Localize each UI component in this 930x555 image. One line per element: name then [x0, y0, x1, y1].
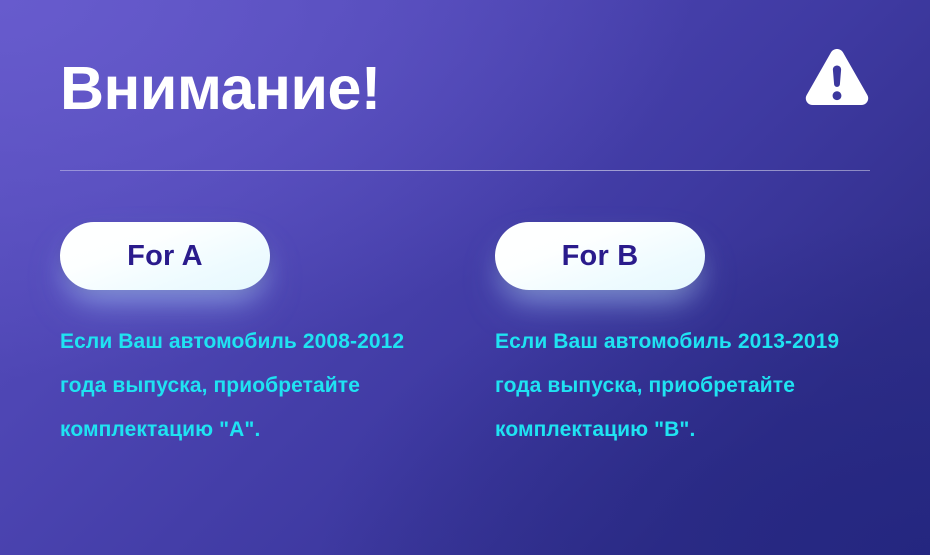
option-a-description: Если Ваш автомобиль 2008-2012 года выпус…: [60, 320, 460, 452]
option-column-a: For A Если Ваш автомобиль 2008-2012 года…: [60, 222, 460, 290]
description-line: Если Ваш автомобиль 2013-2019: [495, 320, 895, 364]
warning-triangle-icon: [804, 48, 870, 112]
page-title: Внимание!: [60, 46, 381, 130]
description-line: года выпуска, приобретайте: [60, 364, 460, 408]
for-a-button-label: For A: [127, 242, 203, 271]
description-line: года выпуска, приобретайте: [495, 364, 895, 408]
for-a-button[interactable]: For A: [60, 222, 270, 290]
description-line: комплектацию "A".: [60, 408, 460, 452]
banner-header: Внимание!: [60, 46, 870, 136]
option-column-b: For B Если Ваш автомобиль 2013-2019 года…: [495, 222, 895, 290]
for-b-button-label: For B: [562, 242, 639, 271]
for-b-button[interactable]: For B: [495, 222, 705, 290]
header-divider: [60, 170, 870, 171]
attention-banner: Внимание! For A Если Ваш автомобиль 2008…: [0, 0, 930, 555]
option-b-description: Если Ваш автомобиль 2013-2019 года выпус…: [495, 320, 895, 452]
description-line: комплектацию "B".: [495, 408, 895, 452]
description-line: Если Ваш автомобиль 2008-2012: [60, 320, 460, 364]
